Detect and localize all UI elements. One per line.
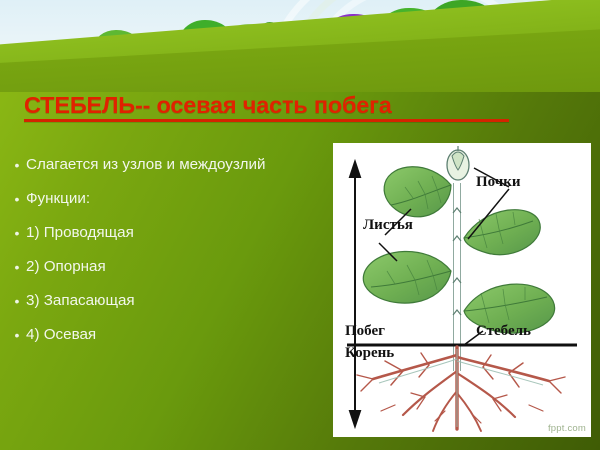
- leaf-upper-right: [464, 210, 540, 255]
- height-arrow-icon: [350, 162, 360, 426]
- bullet-dot-icon: •: [8, 291, 26, 312]
- list-item: • Слагается из узлов и междоузлий: [8, 155, 326, 176]
- label-buds: Почки: [476, 174, 521, 191]
- bullet-text: 2) Опорная: [26, 257, 326, 277]
- bullet-dot-icon: •: [8, 325, 26, 346]
- bullet-text: Функции:: [26, 189, 326, 209]
- bullet-text: 4) Осевая: [26, 325, 326, 345]
- watermark: fppt.com: [548, 423, 586, 434]
- leaf-middle-left: [363, 251, 451, 303]
- apical-bud-shape: [447, 146, 469, 180]
- banner-image: [0, 0, 600, 92]
- slide-title: СТЕБЕЛЬ-- осевая часть побега: [24, 92, 564, 118]
- bullet-dot-icon: •: [8, 223, 26, 244]
- bullet-dot-icon: •: [8, 189, 26, 210]
- bullet-text: 3) Запасающая: [26, 291, 326, 311]
- bullet-list: • Слагается из узлов и междоузлий • Функ…: [8, 155, 326, 359]
- plant-diagram: Почки Листья Побег Стебель Корень fppt.c…: [333, 143, 591, 437]
- title-block: СТЕБЕЛЬ-- осевая часть побега: [24, 92, 564, 122]
- label-root: Корень: [345, 345, 394, 362]
- list-item: • 2) Опорная: [8, 257, 326, 278]
- label-stem: Стебель: [476, 323, 531, 340]
- list-item: • Функции:: [8, 189, 326, 210]
- list-item: • 4) Осевая: [8, 325, 326, 346]
- bullet-dot-icon: •: [8, 155, 26, 176]
- leaf-upper-left: [384, 167, 451, 217]
- label-shoot: Побег: [345, 323, 385, 340]
- bullet-text: 1) Проводящая: [26, 223, 326, 243]
- title-underline: [24, 119, 509, 122]
- list-item: • 1) Проводящая: [8, 223, 326, 244]
- list-item: • 3) Запасающая: [8, 291, 326, 312]
- label-leaves: Листья: [363, 217, 413, 234]
- slide: СТЕБЕЛЬ-- осевая часть побега • Слагаетс…: [0, 0, 600, 450]
- bullet-dot-icon: •: [8, 257, 26, 278]
- bullet-text: Слагается из узлов и междоузлий: [26, 155, 326, 175]
- plant-diagram-svg: [333, 143, 591, 437]
